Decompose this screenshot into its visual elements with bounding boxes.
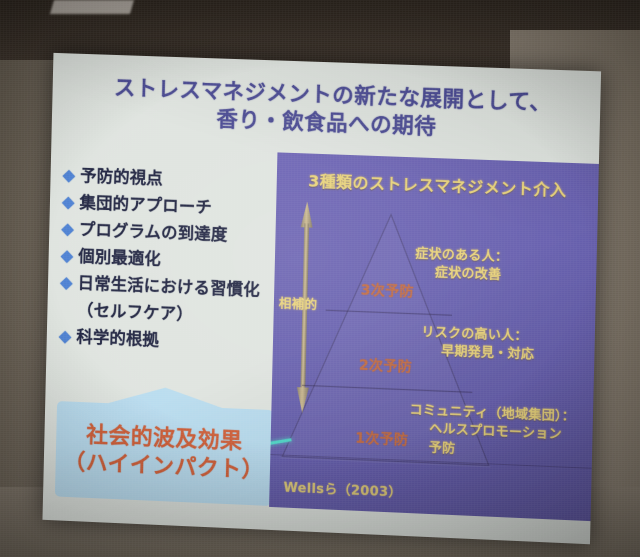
diamond-bullet-icon [61, 250, 74, 263]
tier-2-target: リスクの高い人： [421, 325, 528, 344]
bullet-label: 集団的アプローチ [79, 192, 212, 219]
list-item: 科学的根拠 [60, 326, 283, 359]
tier-3-action: 症状の改善 [415, 264, 508, 286]
presentation-slide: ストレスマネジメントの新たな展開として、 香り・飲食品への期待 予防的視点 集団… [42, 53, 601, 544]
ceiling-fixture [50, 0, 134, 14]
tier-1-description: コミュニティ（地域集団）： ヘルスプロモーション 予防 [408, 402, 575, 465]
impact-callout-body: 社会的波及効果 （ハイインパクト） [55, 401, 274, 506]
projection-screen: ストレスマネジメントの新たな展開として、 香り・飲食品への期待 予防的視点 集団… [42, 53, 601, 544]
bullet-label: 科学的根拠 [76, 326, 159, 351]
tier-3-description: 症状のある人： 症状の改善 [415, 246, 509, 287]
diamond-bullet-icon [61, 224, 74, 237]
source-citation: Wellsら（2003） [283, 477, 402, 501]
tier-2-description: リスクの高い人： 早期発見・対応 [421, 324, 535, 366]
bullet-label: 予防的視点 [80, 165, 163, 190]
bullet-label: 個別最適化 [78, 246, 161, 271]
bullet-label: （セルフケア） [77, 299, 193, 326]
bullet-list: 予防的視点 集団的アプローチ プログラムの到達度 個別最適化 日常生活における習 [60, 165, 287, 362]
bullet-label: 日常生活における習慣化 [77, 273, 260, 302]
tier-3-target: 症状のある人： [415, 247, 508, 266]
diamond-bullet-icon [62, 197, 75, 210]
diamond-bullet-icon [63, 170, 76, 183]
diamond-bullet-icon [60, 277, 73, 290]
slide-title: ストレスマネジメントの新たな展開として、 香り・飲食品への期待 [52, 73, 601, 149]
projected-slide-photo: ストレスマネジメントの新たな展開として、 香り・飲食品への期待 予防的視点 集団… [0, 0, 640, 557]
intervention-diagram-panel: 3種類のストレスマネジメント介入 [269, 152, 599, 521]
impact-callout-box: 社会的波及効果 （ハイインパクト） [55, 401, 274, 506]
bullet-label: プログラムの到達度 [79, 219, 228, 247]
diamond-bullet-icon [59, 331, 72, 344]
panel-heading: 3種類のストレスマネジメント介入 [277, 166, 599, 202]
